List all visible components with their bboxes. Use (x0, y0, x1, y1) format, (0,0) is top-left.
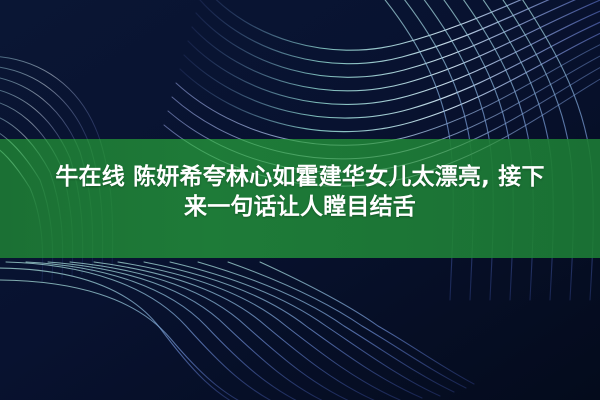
headline-line-2: 来一句话让人瞠目结舌 (14, 193, 586, 223)
headline-line-1: 牛在线 陈妍希夸林心如霍建华女儿太漂亮, 接下 (14, 163, 586, 193)
headline-text: 牛在线 陈妍希夸林心如霍建华女儿太漂亮, 接下 来一句话让人瞠目结舌 (0, 163, 600, 223)
banner-image: 牛在线 陈妍希夸林心如霍建华女儿太漂亮, 接下 来一句话让人瞠目结舌 (0, 0, 600, 400)
